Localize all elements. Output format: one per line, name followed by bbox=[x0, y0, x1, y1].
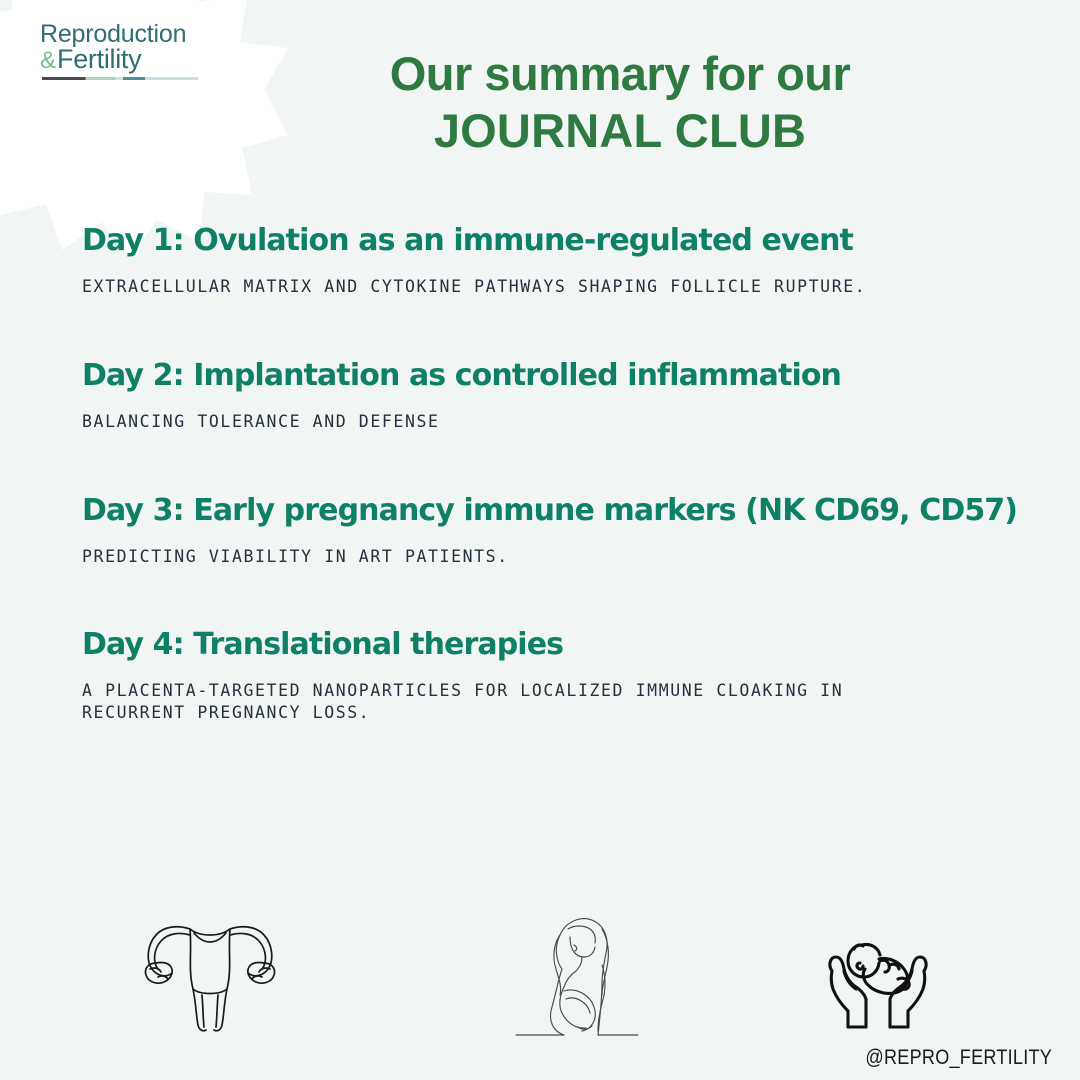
day-entry-4: Day 4: Translational therapies A PLACENT… bbox=[82, 628, 1042, 724]
ampersand-icon: & bbox=[40, 49, 56, 73]
uterus-illustration bbox=[130, 911, 290, 1035]
day-1-subtitle: EXTRACELLULAR MATRIX AND CYTOKINE PATHWA… bbox=[82, 276, 937, 298]
pregnant-woman-illustration bbox=[512, 895, 642, 1045]
day-4-heading: Day 4: Translational therapies bbox=[82, 628, 1042, 661]
day-entry-1: Day 1: Ovulation as an immune-regulated … bbox=[82, 224, 1042, 298]
day-entry-2: Day 2: Implantation as controlled inflam… bbox=[82, 359, 1042, 433]
day-1-heading: Day 1: Ovulation as an immune-regulated … bbox=[82, 224, 1042, 257]
title-line-1: Our summary for our bbox=[290, 46, 950, 101]
day-2-heading: Day 2: Implantation as controlled inflam… bbox=[82, 359, 1042, 392]
day-4-subtitle: A PLACENTA-TARGETED NANOPARTICLES FOR LO… bbox=[82, 680, 937, 724]
page-title: Our summary for our JOURNAL CLUB bbox=[290, 46, 950, 162]
brand-logo: Reproduction & Fertility bbox=[40, 22, 240, 80]
title-line-2: JOURNAL CLUB bbox=[290, 101, 950, 161]
logo-underline-bar bbox=[42, 77, 198, 80]
day-entry-3: Day 3: Early pregnancy immune markers (N… bbox=[82, 494, 1042, 568]
day-2-subtitle: BALANCING TOLERANCE AND DEFENSE bbox=[82, 411, 937, 433]
illustration-row bbox=[0, 895, 1080, 1045]
baby-in-hands-illustration bbox=[818, 919, 938, 1031]
poster-canvas: Reproduction & Fertility Our summary for… bbox=[0, 0, 1080, 1080]
day-list: Day 1: Ovulation as an immune-regulated … bbox=[82, 224, 1042, 724]
day-3-heading: Day 3: Early pregnancy immune markers (N… bbox=[82, 494, 1042, 527]
social-handle: @REPRO_FERTILITY bbox=[865, 1046, 1052, 1070]
logo-line-fertility: Fertility bbox=[57, 46, 141, 74]
logo-line-fertility-row: & Fertility bbox=[40, 46, 240, 74]
day-3-subtitle: PREDICTING VIABILITY IN ART PATIENTS. bbox=[82, 546, 937, 568]
